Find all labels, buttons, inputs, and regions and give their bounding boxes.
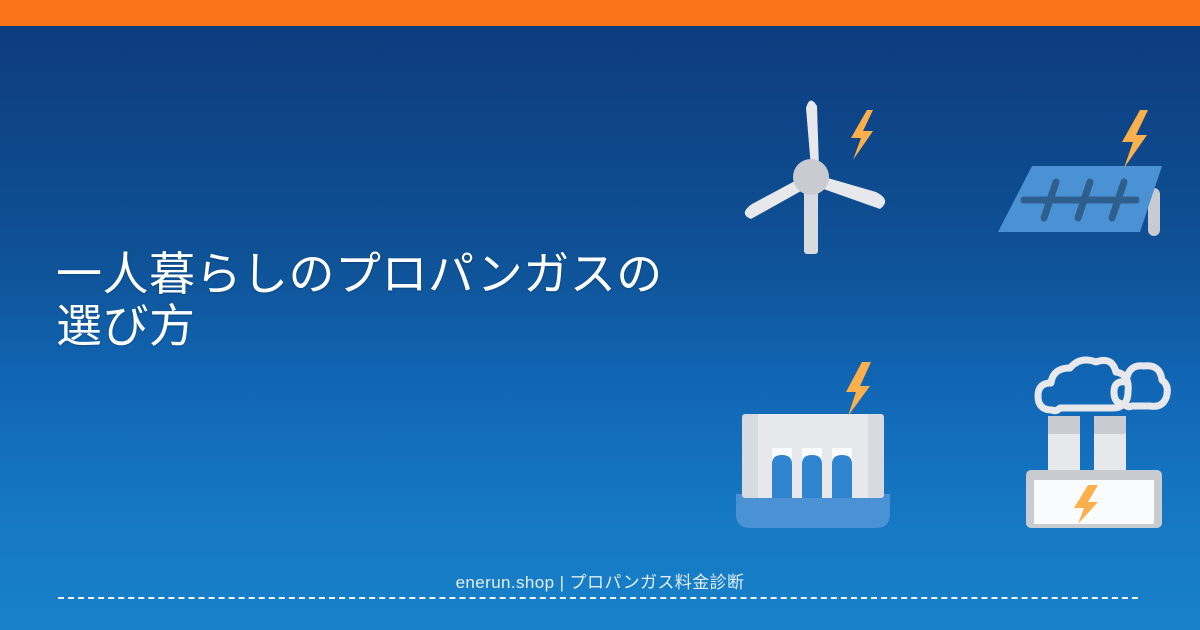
solar-panel-icon — [984, 104, 1180, 252]
power-plant-icon — [1008, 338, 1180, 540]
footer-branding: enerun.shop | プロパンガス料金診断 — [0, 572, 1200, 594]
wind-turbine-icon — [718, 82, 904, 254]
orange-accent-bar — [0, 0, 1200, 26]
hydro-dam-icon — [720, 356, 906, 536]
footer-divider — [58, 597, 1138, 599]
page-title: 一人暮らしのプロパンガスの 選び方 — [56, 248, 756, 352]
og-image-card: 一人暮らしのプロパンガスの 選び方 — [0, 0, 1200, 630]
